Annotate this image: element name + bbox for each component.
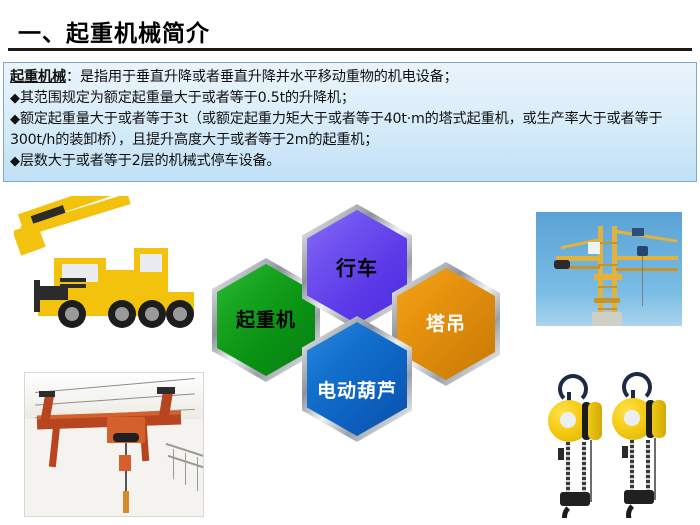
info-line-2-text: 其范围规定为额定起重量大于或者等于0.5t的升降机；: [20, 90, 355, 106]
info-line-4: ◆层数大于或者等于2层的机械式停车设备。: [10, 151, 690, 172]
diamond-bullet-icon: ◆: [10, 91, 20, 106]
page-title: 一、起重机械简介: [18, 14, 210, 48]
info-line-4-text: 层数大于或者等于2层的机械式停车设备。: [20, 153, 281, 169]
info-line-1-text: ：是指用于垂直升降或者垂直升降并水平移动重物的机电设备；: [66, 69, 458, 85]
info-panel: 起重机械：是指用于垂直升降或者垂直升降并水平移动重物的机电设备； ◆其范围规定为…: [3, 62, 697, 182]
hexagon-label-electric-hoist: 电动葫芦: [302, 376, 412, 403]
photo-chain-hoist: [530, 368, 695, 518]
info-line-1: 起重机械：是指用于垂直升降或者垂直升降并水平移动重物的机电设备；: [10, 67, 690, 88]
hexagon-electric-hoist[interactable]: 电动葫芦: [302, 316, 412, 442]
photo-truck-crane: [14, 196, 214, 341]
info-line-3: ◆额定起重量大于或者等于3t（或额定起重力矩大于或者等于40t·m的塔式起重机，…: [10, 109, 690, 151]
info-keyword: 起重机械: [10, 69, 66, 85]
photo-overhead-crane: [24, 372, 204, 517]
photo-tower-crane: [536, 212, 682, 326]
slide-canvas: 一、起重机械简介 起重机械：是指用于垂直升降或者垂直升降并水平移动重物的机电设备…: [0, 0, 700, 525]
title-divider: [8, 48, 692, 51]
diamond-bullet-icon: ◆: [10, 112, 20, 127]
diamond-bullet-icon: ◆: [10, 154, 20, 169]
info-line-3-text: 额定起重量大于或者等于3t（或额定起重力矩大于或者等于40t·m的塔式起重机，或…: [10, 111, 662, 148]
info-line-2: ◆其范围规定为额定起重量大于或者等于0.5t的升降机；: [10, 88, 690, 109]
